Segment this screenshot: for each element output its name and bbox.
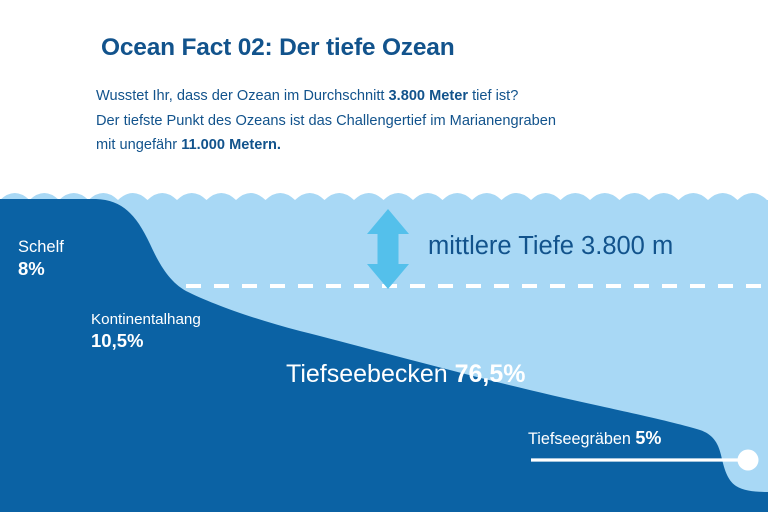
intro-paragraph: Wusstet Ihr, dass der Ozean im Durchschn… <box>96 84 696 158</box>
zone-label-tiefseegraeben: Tiefseegräben 5% <box>528 428 661 449</box>
intro-line-3-pre: mit ungefähr <box>96 137 181 153</box>
intro-line-1-post: tief ist? <box>468 88 518 104</box>
zone-label-kontinentalhang: Kontinentalhang 10,5% <box>91 311 201 352</box>
intro-line-1-bold: 3.800 Meter <box>389 88 469 104</box>
page-title: Ocean Fact 02: Der tiefe Ozean <box>101 34 454 62</box>
zone-label-tiefseebecken: Tiefseebecken 76,5% <box>286 360 526 390</box>
intro-line-3-bold: 11.000 Metern. <box>181 137 281 153</box>
zone-percent-tiefseegraeben: 5% <box>635 428 661 448</box>
zone-label-schelf: Schelf 8% <box>18 238 64 280</box>
zone-name-tiefseegraeben: Tiefseegräben <box>528 430 631 448</box>
intro-line-3: mit ungefähr 11.000 Metern. <box>96 133 696 158</box>
mean-depth-label: mittlere Tiefe 3.800 m <box>428 232 673 261</box>
intro-line-1: Wusstet Ihr, dass der Ozean im Durchschn… <box>96 84 696 109</box>
zone-name-kontinentalhang: Kontinentalhang <box>91 311 201 329</box>
header-band: Ocean Fact 02: Der tiefe Ozean Wusstet I… <box>0 0 768 186</box>
zone-name-schelf: Schelf <box>18 238 64 257</box>
ocean-fact-infographic: Ocean Fact 02: Der tiefe Ozean Wusstet I… <box>0 0 768 512</box>
zone-percent-tiefseebecken: 76,5% <box>455 360 526 388</box>
intro-line-1-pre: Wusstet Ihr, dass der Ozean im Durchschn… <box>96 88 389 104</box>
zone-percent-schelf: 8% <box>18 258 64 280</box>
zone-name-tiefseebecken: Tiefseebecken <box>286 360 448 388</box>
zone-percent-kontinentalhang: 10,5% <box>91 330 201 352</box>
dot-marker-icon <box>738 450 759 471</box>
intro-line-2: Der tiefste Punkt des Ozeans ist das Cha… <box>96 109 696 134</box>
